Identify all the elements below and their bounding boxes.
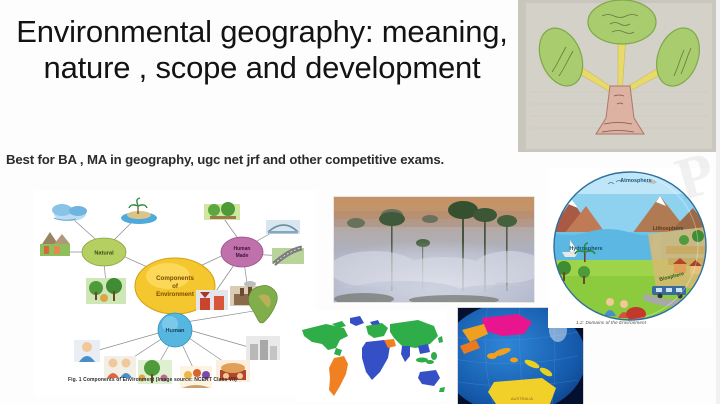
figure-hand-drawn-tree — [518, 0, 720, 152]
svg-text:Human: Human — [234, 246, 251, 252]
figure-domains-of-environment: Atmosphere Lithosphere Hydrosphere Biosp… — [548, 168, 713, 328]
figure-world-map — [296, 310, 446, 402]
right-edge-strip — [716, 0, 720, 404]
figure-smoky-forest-photo — [334, 197, 534, 302]
svg-text:Natural: Natural — [94, 251, 114, 257]
page-subtitle: Best for BA , MA in geography, ugc net j… — [6, 152, 546, 167]
svg-text:Environment: Environment — [156, 291, 194, 298]
domains-label-hydrosphere: Hydrosphere — [569, 246, 602, 252]
page-title: Environmental geography: meaning, nature… — [12, 14, 512, 87]
svg-text:of: of — [172, 283, 179, 290]
domains-label-atmosphere: Atmosphere — [620, 178, 651, 184]
figure-caption-concept-map: Fig. 1 Components of Environment (Image … — [68, 377, 237, 383]
figure-components-of-environment: Natural Human Made Components of Environ… — [34, 190, 316, 396]
svg-text:Components: Components — [156, 275, 194, 282]
svg-text:Made: Made — [236, 253, 249, 259]
slide-canvas: Environmental geography: meaning, nature… — [0, 0, 720, 404]
figure-caption-domains: 1.2: Domains of the Environment — [576, 320, 646, 325]
svg-text:AUSTRALIA: AUSTRALIA — [511, 396, 534, 401]
svg-text:Human: Human — [166, 328, 186, 334]
domains-label-lithosphere: Lithosphere — [653, 226, 684, 232]
